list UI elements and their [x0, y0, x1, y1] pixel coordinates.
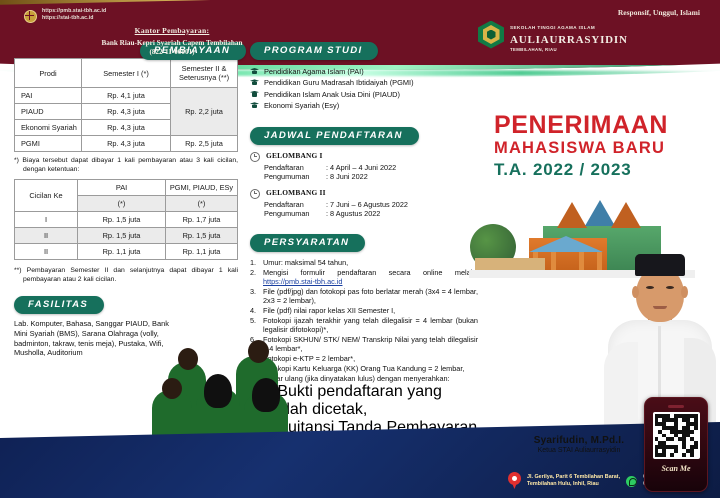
payment-office-block: Kantor Pembayaran: Bank Riau-Kepri Syari… — [66, 26, 278, 56]
schedule-value: : 8 Juni 2022 — [326, 172, 368, 182]
table-row: PAI Rp. 4,1 juta Rp. 2,2 juta — [15, 88, 238, 104]
schedule-value: : 8 Agustus 2022 — [326, 209, 380, 219]
page-title: PENERIMAAN MAHASISWA BARU T.A. 2022 / 20… — [494, 112, 708, 181]
cell-lainnya: Rp. 1,5 juta — [166, 228, 238, 244]
list-item: Pendidikan Guru Madrasah Ibtidaiyah (PGM… — [250, 78, 478, 87]
qr-card[interactable]: Scan Me — [644, 397, 708, 492]
col-lainnya: PGMI, PIAUD, ESy — [166, 180, 238, 196]
clock-icon — [250, 152, 260, 162]
schedule-row: Pengumuman : 8 Juni 2022 — [264, 172, 478, 182]
col-semester1: Semester I (*) — [82, 59, 171, 88]
signature-block: Syarifudin, M.Pd.I. Ketua STAI Auliaurra… — [504, 435, 654, 454]
program-label: Pendidikan Guru Madrasah Ibtidaiyah (PGM… — [264, 78, 414, 87]
website-urls: https://pmb.stai-tbh.ac.id https://stai-… — [24, 8, 106, 23]
poster-root: https://pmb.stai-tbh.ac.id https://stai-… — [0, 0, 720, 498]
title-line3: T.A. 2022 / 2023 — [494, 159, 708, 181]
jadwal-section: JADWAL PENDAFTARAN GELOMBANG I Pendaftar… — [250, 125, 478, 219]
cell-sem1: Rp. 4,3 juta — [82, 120, 171, 136]
list-item: 2.Mengisi formulir pendaftaran secara on… — [250, 268, 478, 287]
student-head — [178, 348, 198, 370]
portrait-ear-left — [632, 286, 639, 298]
portrait-songkok-hat — [635, 254, 685, 276]
gelombang-1: GELOMBANG I — [250, 151, 478, 162]
col-cicilan-ke: Cicilan Ke — [15, 180, 78, 212]
qr-label: Scan Me — [661, 464, 690, 473]
schedule-value: : 4 April – 4 Juni 2022 — [326, 163, 396, 173]
graduation-cap-icon — [250, 79, 259, 86]
cell-sem1: Rp. 4,3 juta — [82, 104, 171, 120]
registration-link[interactable]: https://pmb.stai-tbh.ac.id — [263, 277, 343, 286]
payment-bank: Bank Riau-Kepri Syariah Capem Tembilahan — [66, 38, 278, 48]
whatsapp-icon[interactable] — [626, 476, 637, 487]
cicilan-table: Cicilan Ke PAI PGMI, PIAUD, ESy (*) (*) … — [14, 179, 238, 260]
student-head — [248, 340, 269, 363]
gelombang-title: GELOMBANG I — [266, 151, 323, 160]
portrait-eye-right — [666, 286, 674, 289]
item-text: Umur: maksimal 54 tahun, — [263, 258, 348, 267]
cell-prodi: PAI — [15, 88, 82, 104]
col-semester2: Semester II & Seterusnya (**) — [171, 59, 238, 88]
gable-3 — [611, 202, 641, 228]
student-hijab — [204, 374, 232, 408]
institution-brand: SEKOLAH TINGGI AGAMA ISLAM AULIAURRASYID… — [478, 16, 628, 53]
list-item: 1.Umur: maksimal 54 tahun, — [250, 258, 478, 267]
student-head — [162, 378, 182, 399]
cell-sem2: Rp. 2,5 juta — [171, 136, 238, 152]
item-number: 4. — [250, 306, 263, 315]
portrait-mouth — [653, 306, 667, 309]
student-hijab — [252, 378, 280, 412]
table-row: I Rp. 1,5 juta Rp. 1,7 juta — [15, 212, 238, 228]
address-line1: Jl. Gerilya, Parit 6 Tembilahan Barat, — [527, 474, 620, 481]
table-row: II Rp. 1,5 juta Rp. 1,5 juta — [15, 228, 238, 244]
item-number: 2. — [250, 268, 263, 277]
pembiayaan-table: Prodi Semester I (*) Semester II & Seter… — [14, 58, 238, 152]
item-text: File (pdf/jpg) dan fotokopi pas foto ber… — [263, 287, 478, 305]
list-item: Ekonomi Syariah (Esy) — [250, 101, 478, 110]
subheader-lainnya: (*) — [166, 196, 238, 212]
gable-2 — [585, 200, 615, 226]
list-item: Pendidikan Agama Islam (PAI) — [250, 67, 478, 76]
schedule-label: Pengumuman — [264, 209, 326, 219]
col-pai: PAI — [78, 180, 166, 196]
cell-sem1: Rp. 4,3 juta — [82, 136, 171, 152]
students-group-photo — [152, 330, 304, 442]
portrait-shoulder-left — [604, 342, 638, 428]
table-row: II Rp. 1,1 juta Rp. 1,1 juta — [15, 244, 238, 260]
schedule-row: Pengumuman : 8 Agustus 2022 — [264, 209, 478, 219]
table-row: PGMI Rp. 4,3 juta Rp. 2,5 juta — [15, 136, 238, 152]
cell-ke: I — [15, 212, 78, 228]
program-label: Pendidikan Islam Anak Usia Dini (PIAUD) — [264, 90, 400, 99]
cell-ke: II — [15, 228, 78, 244]
graduation-cap-icon — [250, 91, 259, 98]
gelombang-2: GELOMBANG II — [250, 188, 478, 199]
payment-account: (822-11-00001) — [66, 48, 278, 56]
schedule-label: Pengumuman — [264, 172, 326, 182]
schedule-row: Pendaftaran : 4 April – 4 Juni 2022 — [264, 163, 478, 173]
institution-line3: TEMBILAHAN, RIAU — [510, 47, 628, 53]
cell-pai: Rp. 1,1 juta — [78, 244, 166, 260]
cell-sem1: Rp. 4,1 juta — [82, 88, 171, 104]
portrait-ear-right — [681, 286, 688, 298]
list-item: 4.File (pdf) nilai rapor kelas XII Semes… — [250, 306, 478, 315]
cell-prodi: Ekonomi Syariah — [15, 120, 82, 136]
table-header-row: Cicilan Ke PAI PGMI, PIAUD, ESy — [15, 180, 238, 196]
program-studi-list: Pendidikan Agama Islam (PAI) Pendidikan … — [250, 67, 478, 111]
list-item: 3.File (pdf/jpg) dan fotokopi pas foto b… — [250, 287, 478, 306]
item-number: 3. — [250, 287, 263, 296]
url-pmb[interactable]: https://pmb.stai-tbh.ac.id — [42, 8, 106, 15]
schedule-value: : 7 Juni – 6 Agustus 2022 — [326, 200, 408, 210]
globe-icon — [24, 10, 37, 23]
signature-role: Ketua STAI Auliaurrasyidin — [504, 447, 654, 454]
cell-lainnya: Rp. 1,7 juta — [166, 212, 238, 228]
cell-prodi: PIAUD — [15, 104, 82, 120]
subheader-pai: (*) — [78, 196, 166, 212]
item-text: Mengisi formulir pendaftaran secara onli… — [263, 268, 478, 277]
item-number: 5. — [250, 316, 263, 325]
institution-line1: SEKOLAH TINGGI AGAMA ISLAM — [510, 25, 595, 30]
program-label: Pendidikan Agama Islam (PAI) — [264, 67, 364, 76]
note-single-star: *) Biaya tersebut dapat dibayar 1 kali p… — [14, 157, 238, 174]
cell-lainnya: Rp. 1,1 juta — [166, 244, 238, 260]
graduation-cap-icon — [250, 102, 259, 109]
item-text: File (pdf) nilai rapor kelas XII Semeste… — [263, 306, 395, 315]
schedule-row: Pendaftaran : 7 Juni – 6 Agustus 2022 — [264, 200, 478, 210]
heading-fasilitas: FASILITAS — [14, 296, 104, 314]
note-double-star: **) Pembayaran Semester II dan selanjutn… — [14, 267, 238, 284]
cell-sem2-merged: Rp. 2,2 juta — [171, 88, 238, 136]
heading-jadwal-pendaftaran: JADWAL PENDAFTARAN — [250, 127, 419, 145]
institution-crest-icon — [478, 21, 504, 49]
address-line2: Tembilahan Hulu, Inhil, Riau — [527, 481, 620, 488]
institution-line2: AULIAURRASYIDIN — [510, 34, 628, 47]
schedule-label: Pendaftaran — [264, 200, 326, 210]
program-label: Ekonomi Syariah (Esy) — [264, 101, 339, 110]
heading-persyaratan: PERSYARATAN — [250, 234, 365, 252]
title-line1: PENERIMAAN — [494, 112, 708, 138]
cell-prodi: PGMI — [15, 136, 82, 152]
table-header-row: Prodi Semester I (*) Semester II & Seter… — [15, 59, 238, 88]
address-text: Jl. Gerilya, Parit 6 Tembilahan Barat, T… — [527, 474, 620, 489]
payment-heading: Kantor Pembayaran: — [66, 26, 278, 35]
list-item: Pendidikan Islam Anak Usia Dini (PIAUD) — [250, 90, 478, 99]
qr-card-notch — [668, 405, 684, 408]
cell-ke: II — [15, 244, 78, 260]
title-line2: MAHASISWA BARU — [494, 138, 708, 158]
cell-pai: Rp. 1,5 juta — [78, 228, 166, 244]
url-main[interactable]: https://stai-tbh.ac.id — [42, 15, 106, 22]
qr-code-icon[interactable] — [653, 412, 700, 459]
clock-icon — [250, 189, 260, 199]
left-column: PEMBIAYAAN Prodi Semester I (*) Semester… — [14, 40, 238, 358]
gable-1 — [557, 202, 587, 228]
item-number: 1. — [250, 258, 263, 267]
gelombang-title: GELOMBANG II — [266, 188, 326, 197]
map-pin-icon — [508, 472, 521, 490]
graduation-cap-icon — [250, 68, 259, 75]
portrait-eye-left — [646, 286, 654, 289]
schedule-label: Pendaftaran — [264, 163, 326, 173]
cell-pai: Rp. 1,5 juta — [78, 212, 166, 228]
col-prodi: Prodi — [15, 59, 82, 88]
signature-name: Syarifudin, M.Pd.I. — [504, 435, 654, 446]
institution-tagline: Responsif, Unggul, Islami — [618, 8, 700, 17]
